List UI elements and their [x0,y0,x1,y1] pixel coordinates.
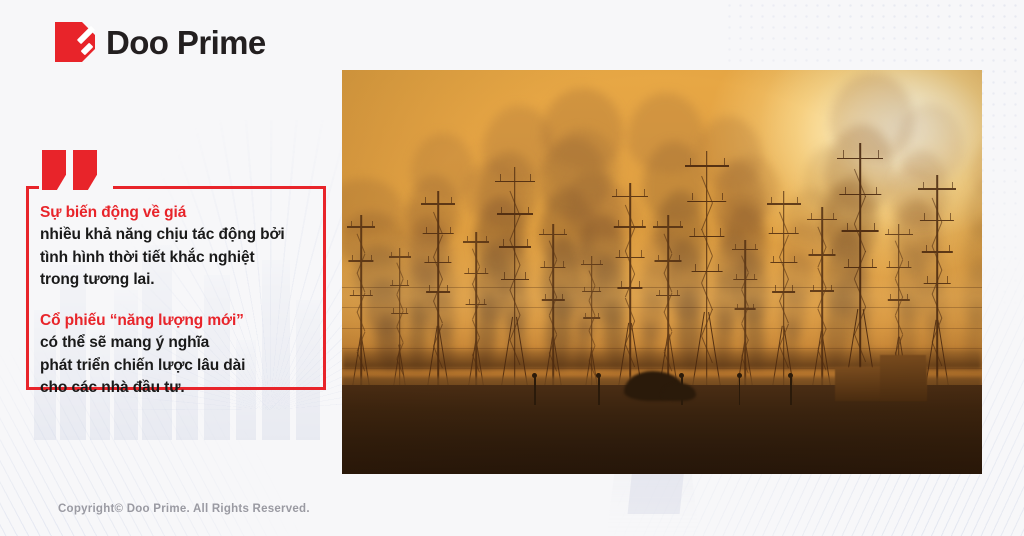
ghost-box-watermark [628,468,685,514]
quote-p2-line-3: cho các nhà đầu tư. [40,377,312,400]
brand-logo[interactable]: Doo Prime [55,22,266,62]
quote-frame-left [26,186,29,390]
hero-photo [342,70,982,474]
quote-body: Sự biến động về giá nhiều khả năng chịu … [40,202,312,400]
brand-name: Doo Prime [106,26,266,59]
quotation-mark-glyph-1 [42,150,66,190]
doo-prime-mark-icon [55,22,95,62]
copyright-text: Copyright© Doo Prime. All Rights Reserve… [58,503,310,515]
quote-paragraph-gap [40,292,312,310]
quote-p1-lead: Sự biến động về giá [40,202,312,224]
quote-callout: Sự biến động về giá nhiều khả năng chịu … [26,172,326,390]
quote-p2-line-2: phát triển chiến lược lâu dài [40,355,312,378]
quotation-mark-icon [42,150,97,190]
quote-p2-line-1: có thể sẽ mang ý nghĩa [40,332,312,355]
quote-p1-lines: nhiều khả năng chịu tác động bởi tình hì… [40,224,312,292]
quote-p1-line-3: trong tương lai. [40,269,312,292]
quote-p1-line-2: tình hình thời tiết khắc nghiệt [40,247,312,270]
quote-frame-top-right [113,186,326,189]
photo-vignette [342,70,982,474]
quote-p1-line-1: nhiều khả năng chịu tác động bởi [40,224,312,247]
quote-p2-lead: Cổ phiếu “năng lượng mới” [40,310,312,332]
quote-p2-lines: có thể sẽ mang ý nghĩa phát triển chiến … [40,332,312,400]
quote-frame-right [323,186,326,390]
quotation-mark-glyph-2 [73,150,97,190]
